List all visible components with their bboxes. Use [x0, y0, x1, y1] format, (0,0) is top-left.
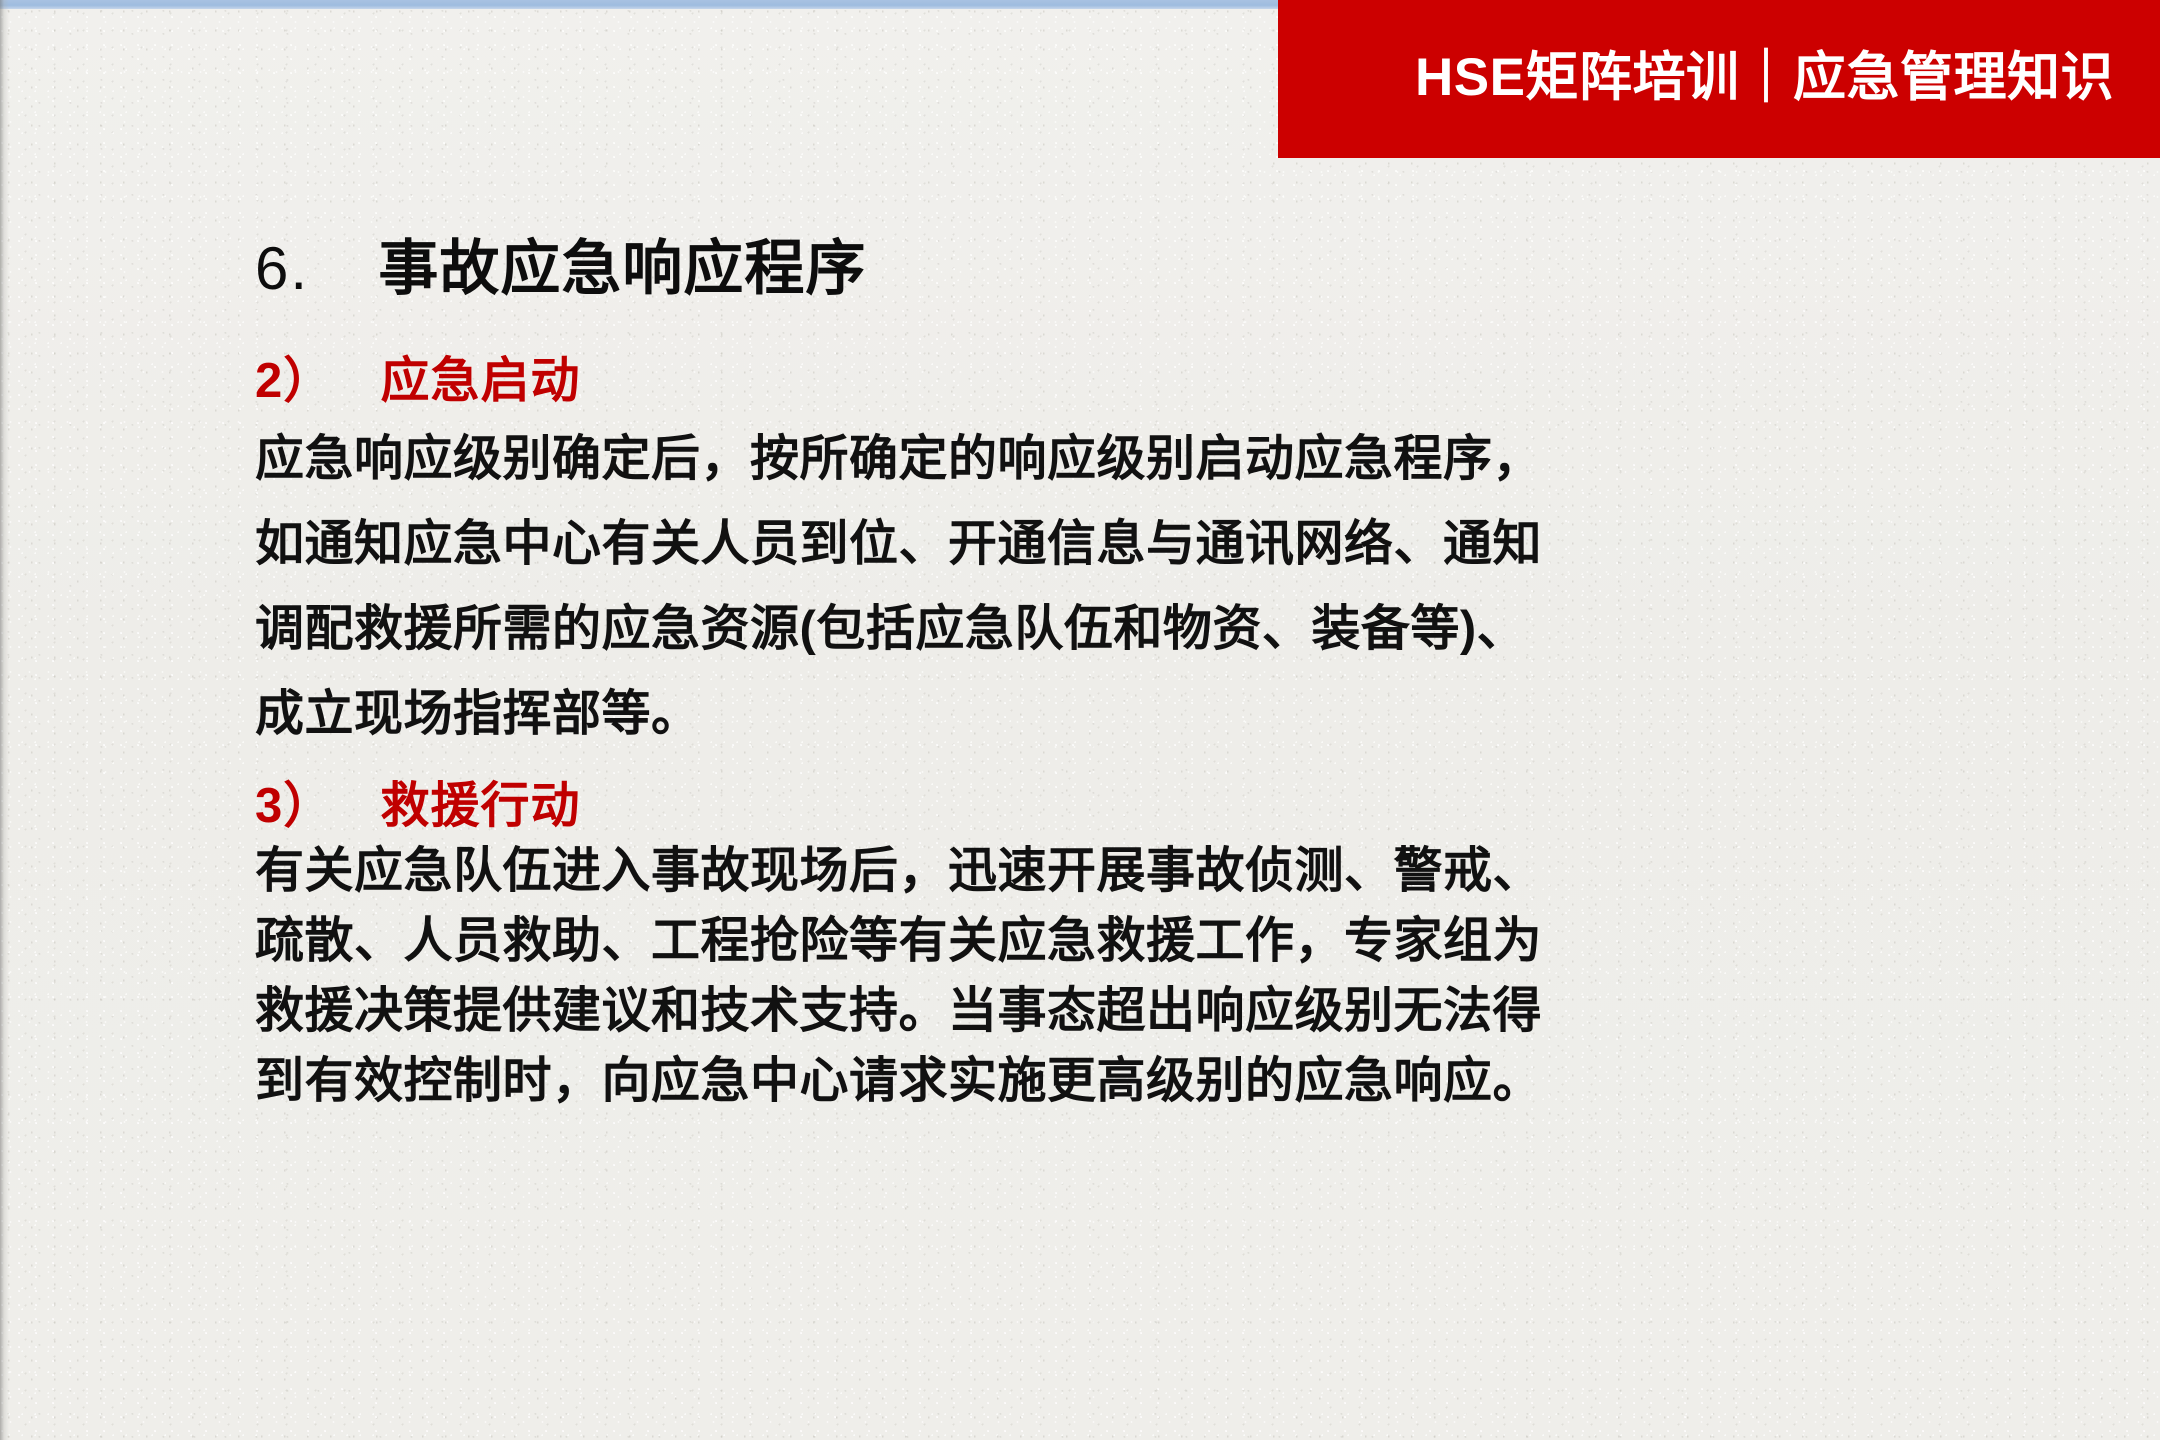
page-title: 6. 事故应急响应程序 [255, 236, 1955, 302]
header-banner: HSE矩阵培训｜应急管理知识 [1278, 0, 2160, 158]
top-blue-accent-bar [0, 0, 1280, 9]
paragraph-line: 如通知应急中心有关人员到位、开通信息与通讯网络、通知 [255, 502, 1955, 587]
paragraph-line: 有关应急队伍进入事故现场后，迅速开展事故侦测、警戒、 [255, 836, 1955, 906]
paragraph-line: 成立现场指挥部等。 [255, 672, 1955, 757]
paragraph-emergency-activation: 应急响应级别确定后，按所确定的响应级别启动应急程序， 如通知应急中心有关人员到位… [255, 417, 1955, 757]
slide-canvas: HSE矩阵培训｜应急管理知识 6. 事故应急响应程序 2） 应急启动 应急响应级… [0, 0, 2160, 1440]
subheading-emergency-activation: 2） 应急启动 [255, 354, 1955, 409]
subheading-label: 应急启动 [381, 354, 581, 408]
paragraph-line: 救援决策提供建议和技术支持。当事态超出响应级别无法得 [255, 976, 1955, 1046]
left-edge-shadow [0, 0, 9, 1440]
paragraph-line: 疏散、人员救助、工程抢险等有关应急救援工作，专家组为 [255, 906, 1955, 976]
paragraph-rescue-action: 有关应急队伍进入事故现场后，迅速开展事故侦测、警戒、 疏散、人员救助、工程抢险等… [255, 836, 1955, 1116]
paragraph-line: 调配救援所需的应急资源(包括应急队伍和物资、装备等)、 [255, 587, 1955, 672]
section-title-text: 事故应急响应程序 [378, 235, 866, 302]
header-banner-title: HSE矩阵培训｜应急管理知识 [1415, 51, 2114, 108]
subheading-rescue-action: 3） 救援行动 [255, 779, 1955, 834]
subheading-number: 2） [255, 354, 333, 408]
subheading-label: 救援行动 [381, 779, 581, 833]
paragraph-line: 应急响应级别确定后，按所确定的响应级别启动应急程序， [255, 417, 1955, 502]
slide-content: 6. 事故应急响应程序 2） 应急启动 应急响应级别确定后，按所确定的响应级别启… [255, 236, 1955, 1116]
section-number: 6. [255, 235, 309, 302]
paragraph-line: 到有效控制时，向应急中心请求实施更高级别的应急响应。 [255, 1046, 1955, 1116]
subheading-number: 3） [255, 779, 333, 833]
